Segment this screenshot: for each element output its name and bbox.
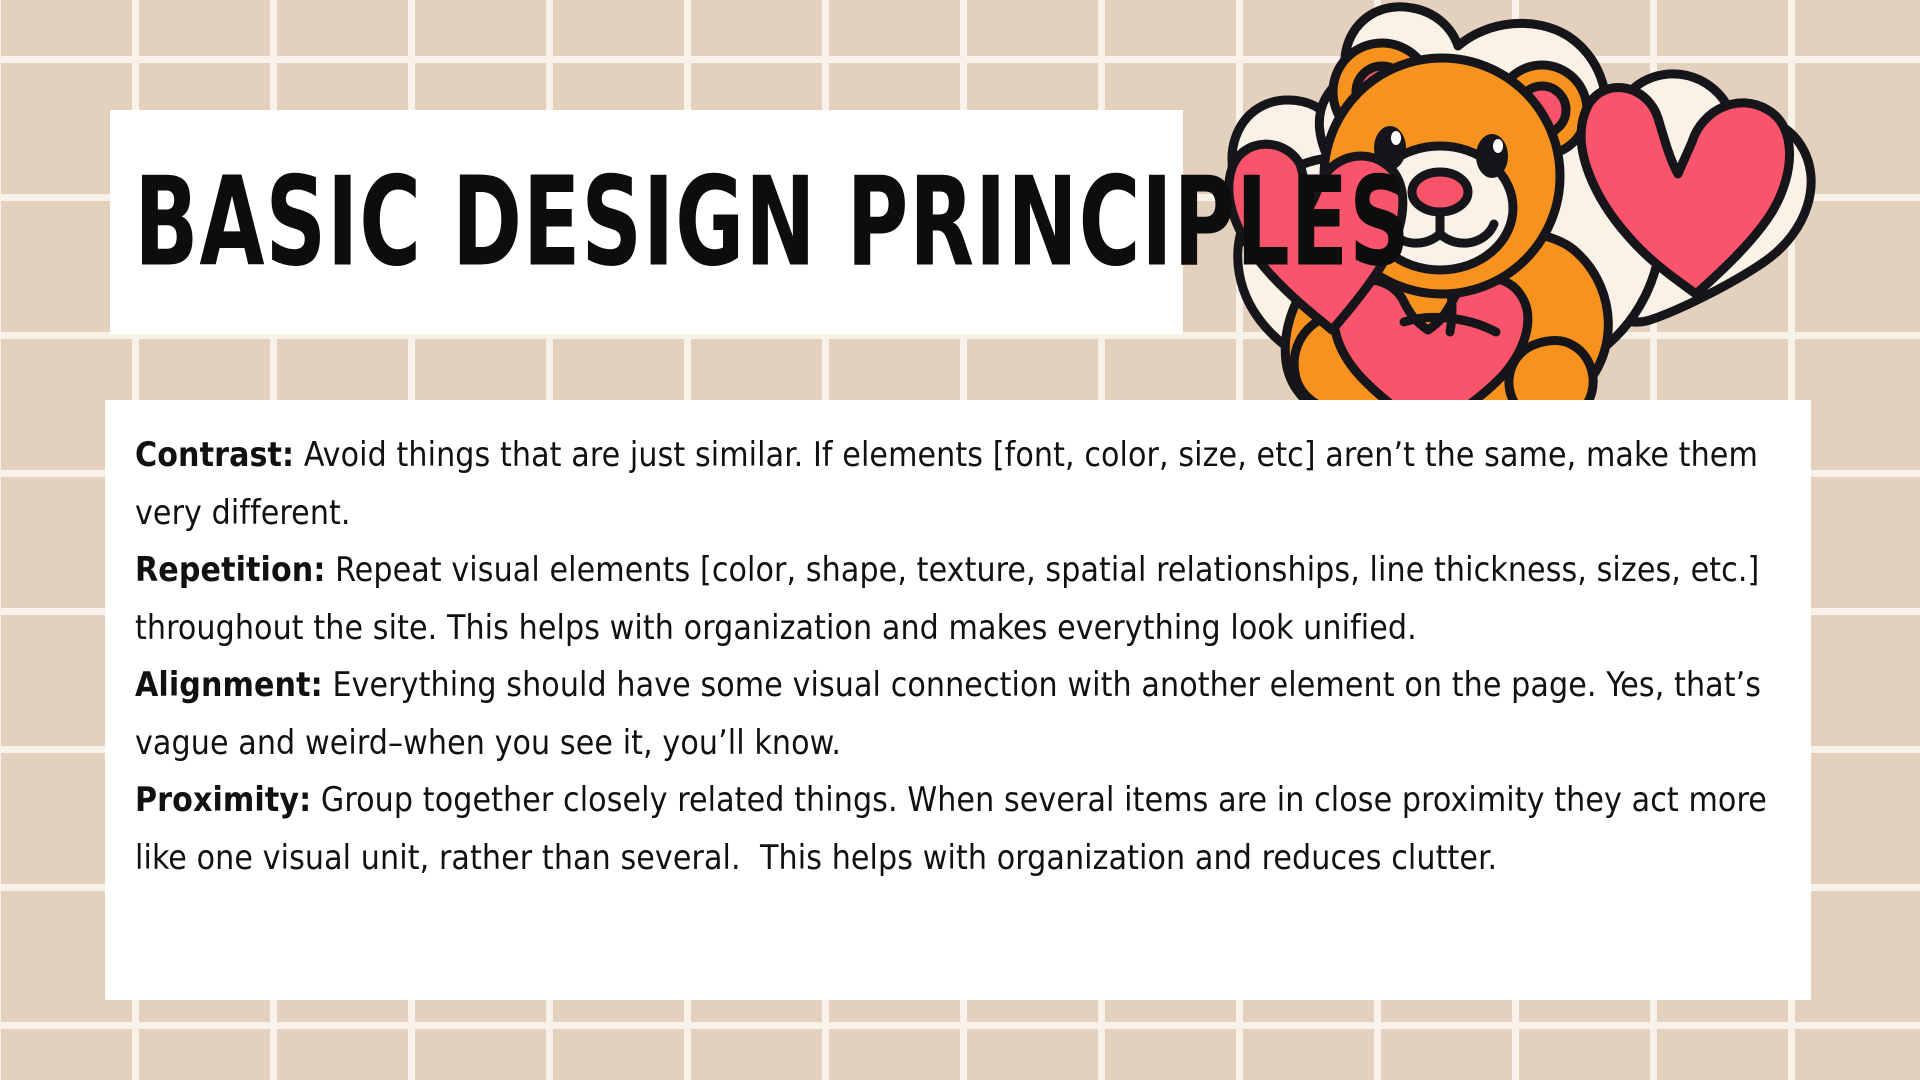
principle-item-repetition: Repetition: Repeat visual elements [colo… (135, 541, 1781, 656)
principle-term: Alignment: (135, 665, 323, 704)
principle-term: Proximity: (135, 780, 311, 819)
principle-item-alignment: Alignment: Everything should have some v… (135, 656, 1781, 771)
principle-term: Repetition: (135, 550, 325, 589)
principle-description: Everything should have some visual conne… (135, 665, 1771, 762)
principles-list: Contrast: Avoid things that are just sim… (135, 426, 1781, 886)
principle-description: Repeat visual elements [color, shape, te… (135, 550, 1769, 647)
principle-item-proximity: Proximity: Group together closely relate… (135, 771, 1781, 886)
principle-description: Avoid things that are just similar. If e… (135, 435, 1768, 532)
principle-description: Group together closely related things. W… (135, 780, 1777, 877)
title-card: BASIC DESIGN PRINCIPLES (110, 110, 1183, 334)
page-title: BASIC DESIGN PRINCIPLES (110, 161, 1411, 284)
principle-item-contrast: Contrast: Avoid things that are just sim… (135, 426, 1781, 541)
slide-canvas: BASIC DESIGN PRINCIPLES Contrast: Avoid … (0, 0, 1920, 1080)
principles-card: Contrast: Avoid things that are just sim… (105, 400, 1811, 1000)
principle-term: Contrast: (135, 435, 294, 474)
